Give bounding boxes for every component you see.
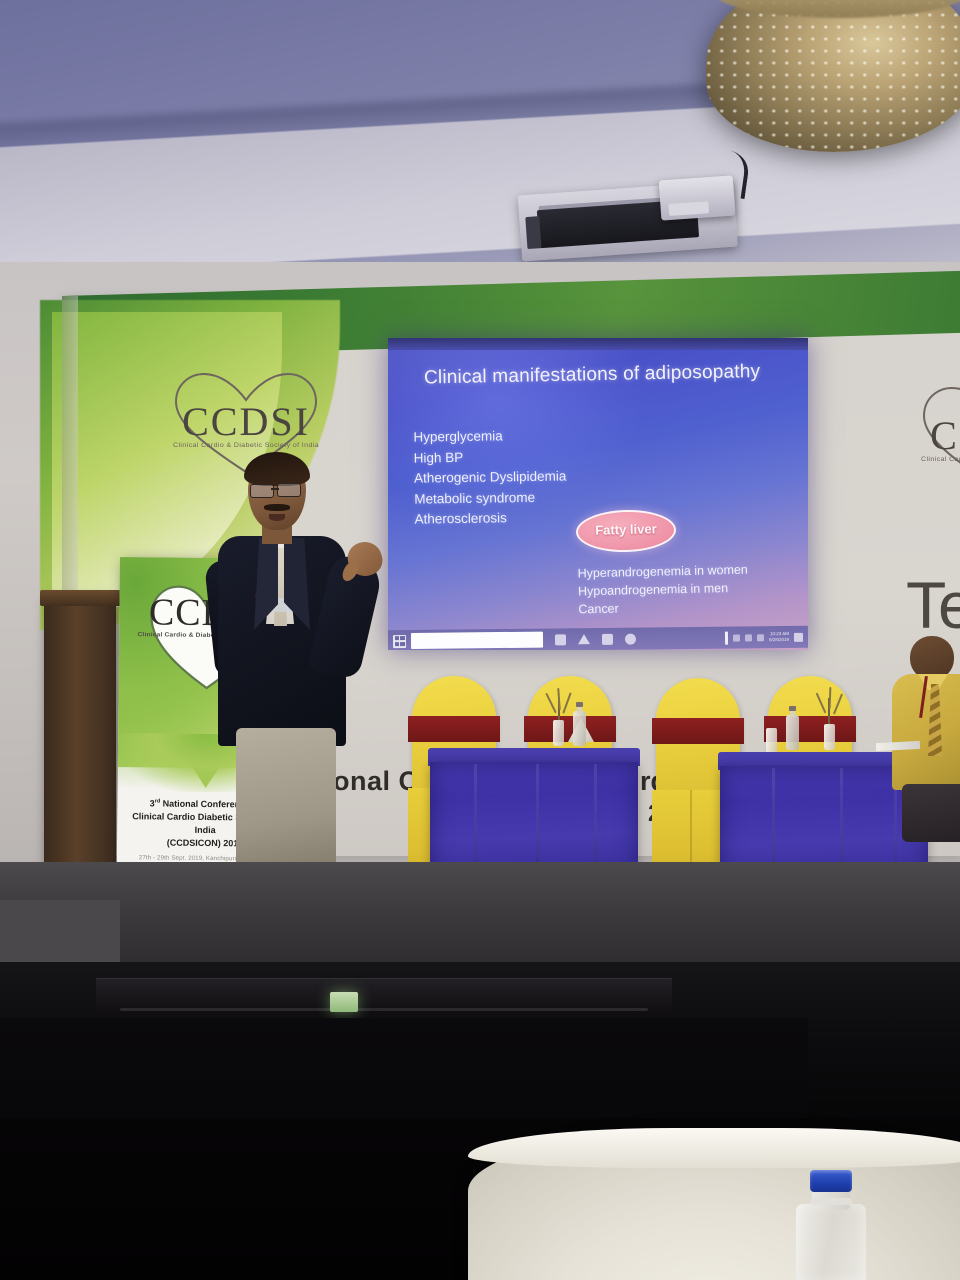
green-indicator-light	[330, 992, 358, 1012]
eyeglasses-icon	[250, 484, 274, 498]
notifications-icon[interactable]	[794, 632, 803, 641]
stage-floor	[0, 862, 960, 978]
ceiling-projector	[659, 175, 736, 220]
speaker-presenter	[196, 452, 396, 912]
tray-divider	[725, 631, 728, 644]
water-bottle	[573, 702, 586, 746]
chandelier-crystals	[706, 0, 960, 152]
podium-top	[40, 590, 124, 606]
foreground-water-bottle	[788, 1168, 874, 1280]
seated-shirt	[892, 674, 960, 790]
triangle-app-icon[interactable]	[578, 634, 590, 644]
projection-screen: Clinical manifestations of adiposopathy …	[388, 338, 808, 650]
projector-lens	[668, 201, 709, 216]
screen-top-strip	[388, 338, 808, 350]
flower-sprig	[557, 688, 561, 710]
flower-sprig	[816, 693, 827, 714]
speaker-trousers	[236, 728, 336, 880]
speaker-mouth	[269, 514, 285, 521]
eyeglasses-icon	[277, 483, 301, 497]
flower-sprig	[829, 687, 832, 709]
volume-icon[interactable]	[757, 634, 764, 641]
flower-sprig	[833, 693, 843, 714]
conference-photo-scene: CCDSI Clinical Cardio & Diabetic Society…	[0, 0, 960, 1280]
search-input[interactable]	[411, 632, 543, 649]
taskbar-clock[interactable]: 10:23 AM 9/28/2019	[769, 631, 789, 642]
flower-sprig	[545, 693, 556, 714]
bottle-cap	[789, 706, 796, 711]
windows-taskbar[interactable]: 10:23 AM 9/28/2019	[388, 626, 808, 650]
clock-date: 9/28/2019	[769, 637, 789, 643]
backdrop-logo-subtitle: Clinical Cardio & Diabetic Society of In…	[908, 457, 960, 463]
slide-callout-label: Fatty liver	[578, 521, 674, 539]
stage-rail-line	[120, 1008, 648, 1011]
circle-app-icon[interactable]	[625, 633, 636, 644]
bottle-body	[573, 711, 586, 746]
flower-sprig	[562, 692, 571, 713]
backdrop-logo-text: CCDSI	[160, 402, 332, 442]
speaker-mustache	[264, 504, 290, 511]
speaker-hair	[244, 452, 310, 486]
slide-secondary-list: Hyperandrogenemia in women Hypoandrogene…	[577, 561, 793, 619]
eyeglasses-bridge	[271, 488, 279, 490]
tray-chevron-icon[interactable]	[733, 634, 740, 641]
seated-attendee	[888, 636, 960, 842]
drinking-glass	[553, 720, 564, 746]
backdrop-logo-text: CCDSI	[908, 416, 960, 456]
bottle-cap	[810, 1170, 852, 1192]
bottle-cap	[576, 702, 583, 707]
drinking-glass	[766, 728, 777, 754]
seated-legs	[902, 784, 960, 842]
network-icon[interactable]	[745, 634, 752, 641]
foreground-table-rim	[468, 1128, 960, 1168]
camera-app-icon[interactable]	[602, 633, 613, 644]
chandelier-light	[706, 0, 960, 166]
task-view-icon[interactable]	[555, 634, 566, 645]
backdrop-logo-right: CCDSI Clinical Cardio & Diabetic Society…	[908, 382, 960, 494]
bottle-body	[796, 1204, 866, 1280]
bottle-ring	[810, 1198, 852, 1205]
drinking-glass	[824, 724, 835, 750]
bottle-body	[786, 715, 799, 750]
system-tray[interactable]: 10:23 AM 9/28/2019	[725, 630, 808, 644]
chair-sash	[652, 718, 744, 744]
backdrop-partial-word: Te	[906, 572, 960, 638]
water-bottle	[786, 706, 799, 750]
chair-sash	[408, 716, 500, 742]
backdrop-logo-subtitle: Clinical Cardio & Diabetic Society of In…	[160, 443, 332, 449]
ac-side-vent	[525, 216, 541, 249]
